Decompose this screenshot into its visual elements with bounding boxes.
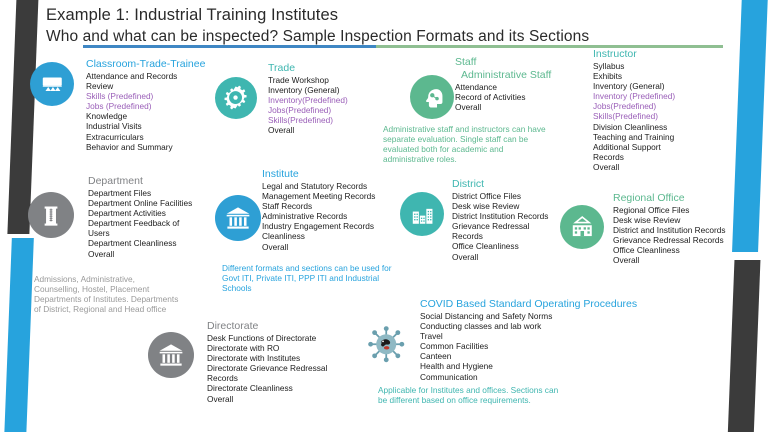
covid-icon-badge <box>360 318 412 370</box>
classroom-text-column: Classroom-Trade-TraineeAttendance and Re… <box>86 58 296 152</box>
note-line: of District, Regional and Head office <box>34 304 178 314</box>
title-rule-blue <box>83 45 376 48</box>
institute-text-column: InstituteLegal and Statutory RecordsMana… <box>262 168 482 252</box>
regional-item-list: Regional Office FilesDesk wise ReviewDis… <box>613 205 768 266</box>
bank-icon <box>154 338 188 372</box>
list-item: Inventory (Predefined) <box>593 91 768 101</box>
head-gear-icon <box>416 81 449 114</box>
list-item: Knowledge <box>86 111 296 121</box>
list-item: Management Meeting Records <box>262 191 482 201</box>
note-line: administrative roles. <box>383 154 546 164</box>
list-item: Jobs(Predefined) <box>593 101 768 111</box>
decor-right-dark-bar <box>728 260 761 432</box>
list-item: Overall <box>613 255 768 265</box>
covid-text-column: COVID Based Standard Operating Procedure… <box>420 298 720 382</box>
list-item: Overall <box>593 162 768 172</box>
note-line: Applicable for Institutes and offices. S… <box>378 385 558 395</box>
department-icon <box>34 198 68 232</box>
list-item: Common Facilities <box>420 341 720 351</box>
classroom-icon-badge <box>30 62 74 106</box>
slide-canvas: Example 1: Industrial Training Institute… <box>0 0 768 432</box>
list-item: Desk wise Review <box>613 215 768 225</box>
list-item: Industrial Visits <box>86 121 296 131</box>
department-note: Admissions, Administrative,Counselling, … <box>34 274 178 314</box>
list-item: Attendance and Records <box>86 71 296 81</box>
note-line: Schools <box>222 283 392 293</box>
title-line-1: Example 1: Industrial Training Institute… <box>46 5 706 26</box>
covid-note: Applicable for Institutes and offices. S… <box>378 385 558 405</box>
virus-icon <box>367 325 405 363</box>
list-item: Inventory (General) <box>593 81 768 91</box>
district-icon-badge <box>400 192 444 236</box>
institute-note: Different formats and sections can be us… <box>222 263 392 293</box>
regional-text-column: Regional OfficeRegional Office FilesDesk… <box>613 192 768 266</box>
note-line: evaluated both for academic and <box>383 144 546 154</box>
classroom-heading: Classroom-Trade-Trainee <box>86 58 296 70</box>
decor-left-blue-bar <box>4 238 34 432</box>
instructor-item-list: SyllabusExhibitsInventory (General)Inven… <box>593 61 768 172</box>
institute-heading: Institute <box>262 168 482 180</box>
list-item: Health and Hygiene <box>420 361 720 371</box>
list-item: Canteen <box>420 351 720 361</box>
institute-icon-badge <box>215 195 261 241</box>
list-item: Conducting classes and lab work <box>420 321 720 331</box>
list-item: Records <box>207 373 432 383</box>
list-item: Behavior and Summary <box>86 142 296 152</box>
title-line-2: Who and what can be inspected? Sample In… <box>46 26 706 47</box>
list-item: District and Institution Records <box>613 225 768 235</box>
note-line: Departments of Institutes. Departments <box>34 294 178 304</box>
list-item: Extracurriculars <box>86 132 296 142</box>
classroom-item-list: Attendance and RecordsReviewSkills (Pred… <box>86 71 296 152</box>
list-item: Division Cleanliness <box>593 122 768 132</box>
list-item: Regional Office Files <box>613 205 768 215</box>
list-item: Skills(Predefined) <box>593 111 768 121</box>
list-item: Communication <box>420 372 720 382</box>
institute-item-list: Legal and Statutory RecordsManagement Me… <box>262 181 482 252</box>
department-icon-badge <box>28 192 74 238</box>
trade-heading: Trade <box>268 62 448 74</box>
trade-icon-badge <box>215 77 257 119</box>
staff-note: Administrative staff and instructors can… <box>383 124 546 164</box>
list-item: Office Cleanliness <box>613 245 768 255</box>
note-line: Admissions, Administrative, <box>34 274 178 284</box>
note-line: Govt ITI, Private ITI, PPP ITI and Indus… <box>222 273 392 283</box>
note-line: be different based on office requirement… <box>378 395 558 405</box>
list-item: Records <box>593 152 768 162</box>
list-item: Administrative Records <box>262 211 482 221</box>
covid-item-list: Social Distancing and Safety NormsConduc… <box>420 311 720 382</box>
list-item: Industry Engagement Records <box>262 221 482 231</box>
district-heading: District <box>452 178 662 190</box>
directorate-icon-badge <box>148 332 194 378</box>
list-item: Syllabus <box>593 61 768 71</box>
list-item: Legal and Statutory Records <box>262 181 482 191</box>
list-item: Review <box>86 81 296 91</box>
instructor-text-column: InstructorSyllabusExhibitsInventory (Gen… <box>593 48 768 172</box>
city-icon <box>406 198 439 231</box>
list-item: Exhibits <box>593 71 768 81</box>
regional-heading: Regional Office <box>613 192 768 204</box>
list-item: Additional Support <box>593 142 768 152</box>
list-item: Overall <box>262 242 482 252</box>
list-item: Jobs (Predefined) <box>86 101 296 111</box>
school-icon <box>566 211 599 244</box>
staff-icon-badge <box>410 75 454 119</box>
note-line: Different formats and sections can be us… <box>222 263 392 273</box>
classroom-icon <box>36 68 69 101</box>
list-item: Skills (Predefined) <box>86 91 296 101</box>
list-item: Cleanliness <box>262 231 482 241</box>
list-item: Grievance Redressal Records <box>613 235 768 245</box>
list-item: Teaching and Training <box>593 132 768 142</box>
gear-icon <box>220 82 251 113</box>
instructor-heading: Instructor <box>593 48 768 60</box>
note-line: Counselling, Hostel, Placement <box>34 284 178 294</box>
note-line: Administrative staff and instructors can… <box>383 124 546 134</box>
covid-heading: COVID Based Standard Operating Procedure… <box>420 298 720 310</box>
bank-icon <box>221 201 255 235</box>
note-line: separate evaluation. Single staff can be <box>383 134 546 144</box>
list-item: Social Distancing and Safety Norms <box>420 311 720 321</box>
list-item: Staff Records <box>262 201 482 211</box>
list-item: Travel <box>420 331 720 341</box>
regional-icon-badge <box>560 205 604 249</box>
slide-title: Example 1: Industrial Training Institute… <box>46 5 706 47</box>
